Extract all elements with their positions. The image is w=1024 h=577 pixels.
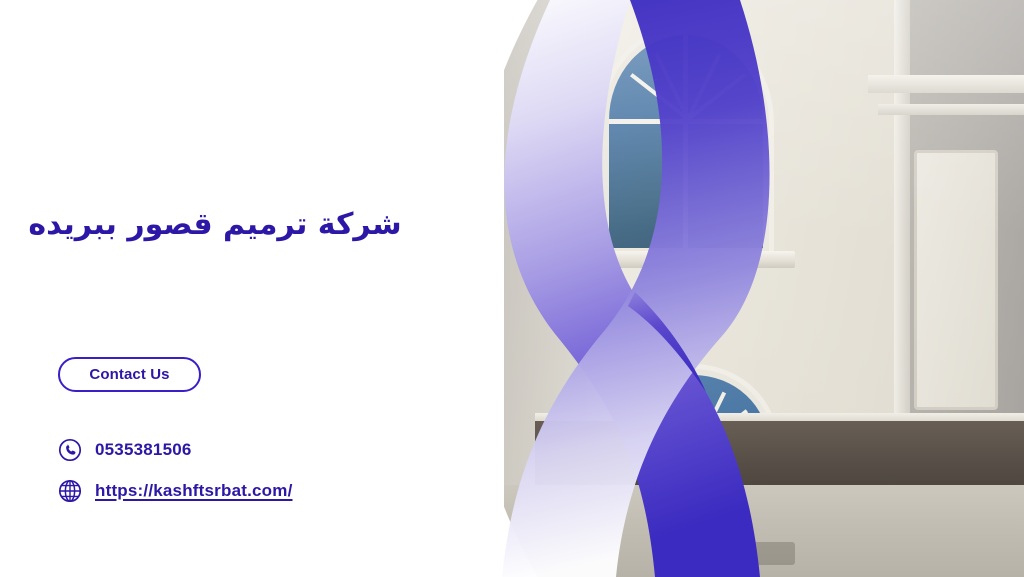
phone-number: 0535381506	[95, 440, 192, 460]
photo-canvas	[504, 0, 1024, 577]
photo-haze-overlay	[504, 0, 1024, 577]
banner-content: شركة ترميم قصور ببريده Contact Us 053538…	[0, 0, 470, 577]
palace-facade-photo	[504, 0, 1024, 577]
contact-list: 0535381506 https://kashftsrbat.com/	[58, 438, 293, 503]
website-url[interactable]: https://kashftsrbat.com/	[95, 481, 293, 501]
phone-icon	[58, 438, 82, 462]
photo-clip	[504, 0, 1024, 577]
page-title: شركة ترميم قصور ببريده	[0, 206, 430, 244]
contact-row-phone[interactable]: 0535381506	[58, 438, 293, 462]
promo-banner: شركة ترميم قصور ببريده Contact Us 053538…	[0, 0, 1024, 577]
contact-row-website[interactable]: https://kashftsrbat.com/	[58, 479, 293, 503]
contact-us-button[interactable]: Contact Us	[58, 357, 201, 392]
globe-icon	[58, 479, 82, 503]
